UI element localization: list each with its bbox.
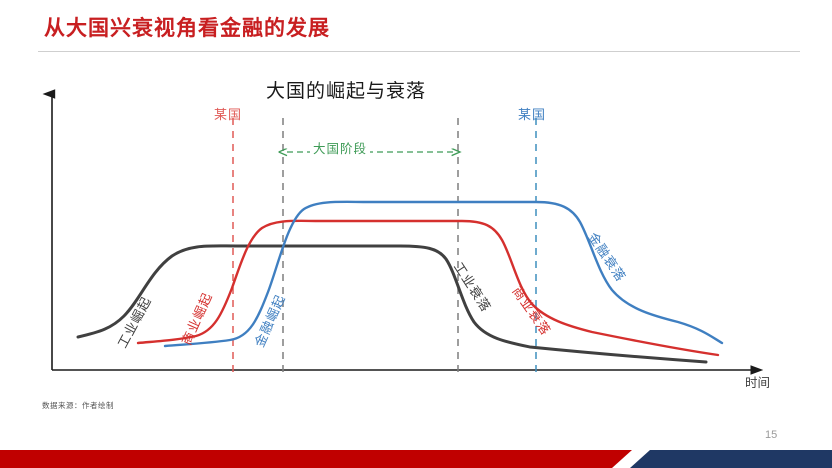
axes [52, 94, 760, 370]
annotation-great-power-phase: 大国阶段 [310, 138, 370, 157]
annotation-country-left: 某国 [214, 104, 242, 123]
chart-canvas: 大国的崛起与衰落 某国 某国 大国阶段 工业崛起 商业崛起 金融崛起 工业衰落 … [0, 60, 832, 390]
title-divider [38, 51, 800, 52]
curve-commerce [138, 221, 718, 355]
annotation-country-right: 某国 [518, 104, 546, 123]
page-title: 从大国兴衰视角看金融的发展 [44, 12, 330, 42]
source-note: 数据来源：作者绘制 [42, 400, 114, 411]
footer-navy-band [630, 450, 832, 468]
footer-decoration [0, 447, 832, 468]
footer-red-band [0, 450, 632, 468]
page-number: 15 [765, 429, 777, 441]
x-axis-label: 时间 [745, 372, 770, 391]
curve-group [78, 202, 722, 362]
slide-root: 从大国兴衰视角看金融的发展 [0, 0, 832, 468]
curve-finance [165, 202, 722, 346]
